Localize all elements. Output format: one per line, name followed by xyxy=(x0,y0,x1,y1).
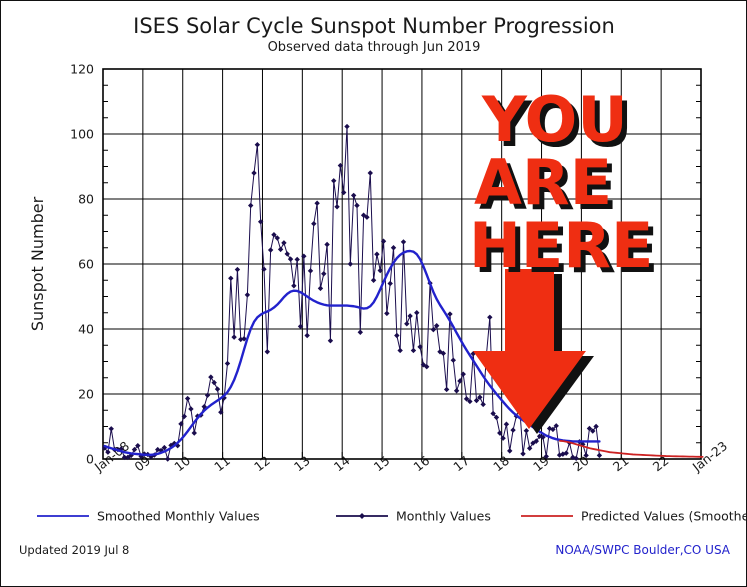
y-axis-label: Sunspot Number xyxy=(28,196,47,331)
page-title: ISES Solar Cycle Sunspot Number Progress… xyxy=(133,14,615,38)
source-credit: NOAA/SWPC Boulder,CO USA xyxy=(555,543,730,557)
legend-label: Predicted Values (Smoothed) xyxy=(581,509,747,524)
y-tick-label: 100 xyxy=(70,127,94,142)
chart-subtitle: Observed data through Jun 2019 xyxy=(268,40,481,55)
y-tick-label: 60 xyxy=(78,257,94,272)
legend-label: Smoothed Monthly Values xyxy=(97,509,260,524)
y-tick-label: 40 xyxy=(78,322,94,337)
y-tick-label: 20 xyxy=(78,387,94,402)
y-tick-label: 120 xyxy=(70,62,94,77)
chart-page: ISES Solar Cycle Sunspot Number Progress… xyxy=(0,0,747,587)
sunspot-chart: ISES Solar Cycle Sunspot Number Progress… xyxy=(1,1,747,587)
updated-timestamp: Updated 2019 Jul 8 xyxy=(19,543,129,557)
annotation-line-3: HERE xyxy=(469,209,653,282)
legend-label: Monthly Values xyxy=(396,509,491,524)
chart-background xyxy=(1,1,747,587)
y-tick-label: 80 xyxy=(78,192,94,207)
